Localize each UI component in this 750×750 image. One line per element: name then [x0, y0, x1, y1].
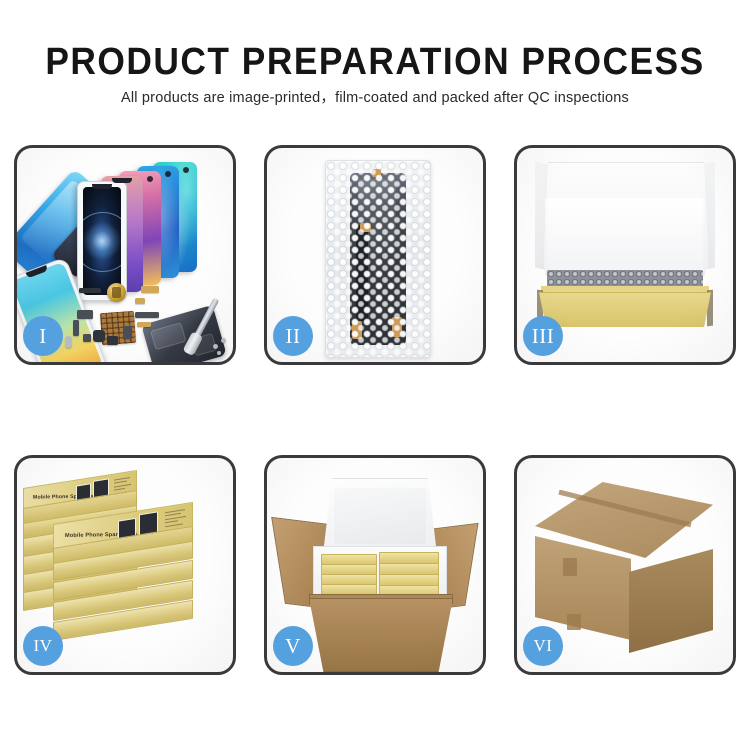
process-step-2[interactable]: II [264, 145, 486, 365]
step-badge-6: VI [523, 626, 563, 666]
screw-2-icon [221, 338, 226, 343]
part-camera-icon [83, 334, 91, 342]
part-ribbon-icon [135, 312, 159, 318]
screw-3-icon [217, 351, 221, 355]
part-speaker-icon [79, 288, 101, 293]
part-mic-icon [107, 336, 118, 345]
process-step-1[interactable]: I [14, 145, 236, 365]
vibration-motor-icon [107, 283, 126, 302]
carton-tape-upper-icon [563, 558, 577, 576]
part-rail-icon [73, 320, 79, 336]
step-badge-1: I [23, 316, 63, 356]
process-step-6[interactable]: VI [514, 455, 736, 675]
bubble-wrap-bag-icon [325, 160, 431, 358]
carton-right-face-icon [629, 549, 713, 653]
step-badge-4: IV [23, 626, 63, 666]
box-text-lines-front [165, 509, 187, 529]
part-sim-tray-icon [65, 336, 72, 348]
carton-left-face-icon [535, 536, 631, 640]
process-step-5[interactable]: V [264, 455, 486, 675]
page-subtitle: All products are image-printed，film-coat… [0, 88, 750, 108]
part-antenna-icon [123, 326, 132, 339]
part-bracket-icon [77, 310, 93, 319]
step-badge-2: II [273, 316, 313, 356]
part-flex-b-icon [137, 322, 151, 327]
process-step-4[interactable]: Mobile Phone Spare Parts [14, 455, 236, 675]
carton-body-icon [309, 598, 453, 672]
step-badge-3: III [523, 316, 563, 356]
page-title: PRODUCT PREPARATION PROCESS [26, 40, 724, 84]
process-step-3[interactable]: III [514, 145, 736, 365]
step-badge-5: V [273, 626, 313, 666]
carton-tape-lower-icon [567, 614, 581, 630]
poster-root: PRODUCT PREPARATION PROCESS All products… [0, 0, 750, 750]
part-button-icon [93, 330, 105, 342]
part-flex-tan-icon [141, 286, 159, 293]
white-foam-sheet-icon [545, 198, 705, 276]
foam-lid-icon [323, 478, 437, 554]
part-connector-icon [135, 298, 145, 304]
process-grid: I II [14, 145, 722, 677]
kraft-box-front-icon [539, 292, 711, 327]
loaded-boxes-group [319, 550, 439, 598]
printed-box-front: Mobile Phone Spare Parts [53, 524, 191, 564]
bubble-texture [326, 161, 430, 357]
phone-fan-group [77, 162, 227, 290]
screw-1-icon [213, 344, 218, 349]
